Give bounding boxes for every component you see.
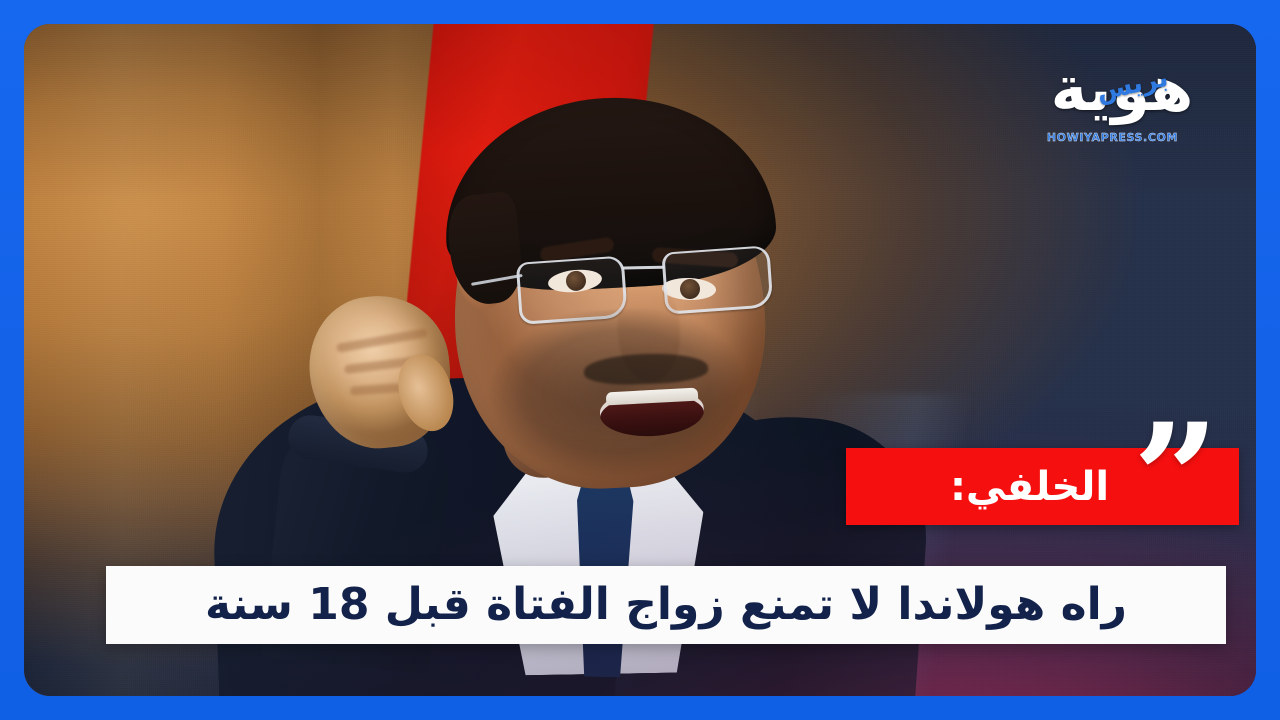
- kicker-banner: الخلفي: ”: [846, 448, 1239, 525]
- kicker-label: الخلفي:: [950, 464, 1135, 510]
- headline-bar: راه هولاندا لا تمنع زواج الفتاة قبل 18 س…: [106, 566, 1226, 644]
- brand-logo: هوية بريس HOWIYAPRESS.COM: [1032, 50, 1212, 142]
- eyeglass-bridge: [622, 266, 664, 270]
- headline-text: راه هولاندا لا تمنع زواج الفتاة قبل 18 س…: [187, 583, 1145, 627]
- brand-logo-url: HOWIYAPRESS.COM: [1047, 131, 1178, 144]
- photo-card: هوية بريس HOWIYAPRESS.COM الخلفي: ” راه …: [24, 24, 1256, 696]
- thumbnail-frame: هوية بريس HOWIYAPRESS.COM الخلفي: ” راه …: [0, 0, 1280, 720]
